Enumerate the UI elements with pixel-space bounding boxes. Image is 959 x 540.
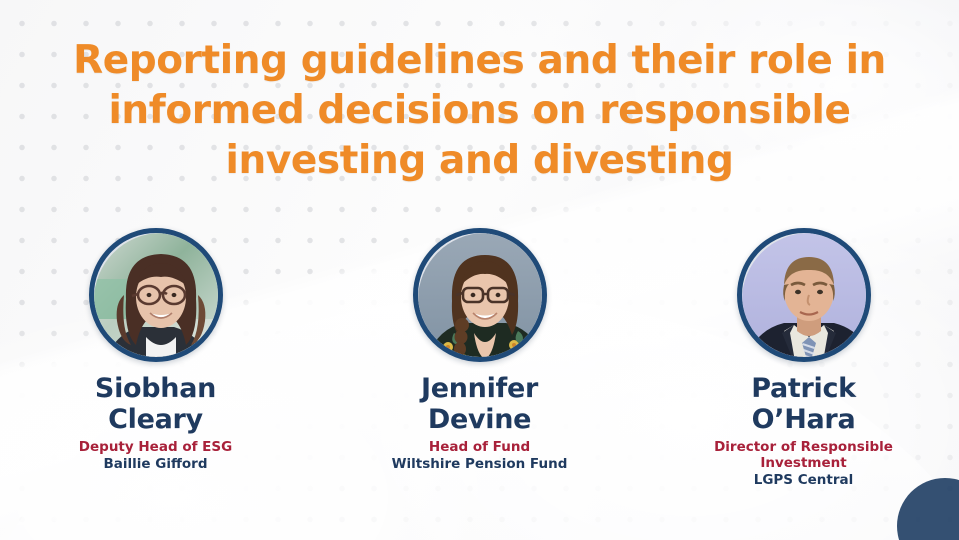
speaker-organisation: LGPS Central [754, 473, 854, 489]
avatar [89, 228, 223, 362]
speaker-name: Jennifer Devine [382, 374, 578, 435]
speaker-organisation: Wiltshire Pension Fund [392, 457, 568, 473]
avatar [413, 228, 547, 362]
speaker-name: Siobhan Cleary [58, 374, 254, 435]
speaker-role: Deputy Head of ESG [79, 440, 232, 456]
speaker-card: Jennifer Devine Head of Fund Wiltshire P… [382, 228, 578, 473]
speaker-photo-patrick-ohara [742, 233, 866, 357]
speaker-photo-jennifer-devine [418, 233, 542, 357]
speaker-organisation: Baillie Gifford [103, 457, 207, 473]
speaker-role: Director of Responsible Investment [706, 440, 902, 472]
presentation-slide: Reporting guidelines and their role in i… [0, 0, 959, 540]
speaker-list: Siobhan Cleary Deputy Head of ESG Bailli… [0, 228, 959, 489]
title-block: Reporting guidelines and their role in i… [0, 36, 959, 186]
speaker-photo-siobhan-cleary [94, 233, 218, 357]
speaker-name: Patrick O’Hara [706, 374, 902, 435]
speaker-card: Siobhan Cleary Deputy Head of ESG Bailli… [58, 228, 254, 473]
speaker-card: Patrick O’Hara Director of Responsible I… [706, 228, 902, 489]
avatar [737, 228, 871, 362]
page-title: Reporting guidelines and their role in i… [58, 36, 901, 186]
speaker-role: Head of Fund [429, 440, 530, 456]
